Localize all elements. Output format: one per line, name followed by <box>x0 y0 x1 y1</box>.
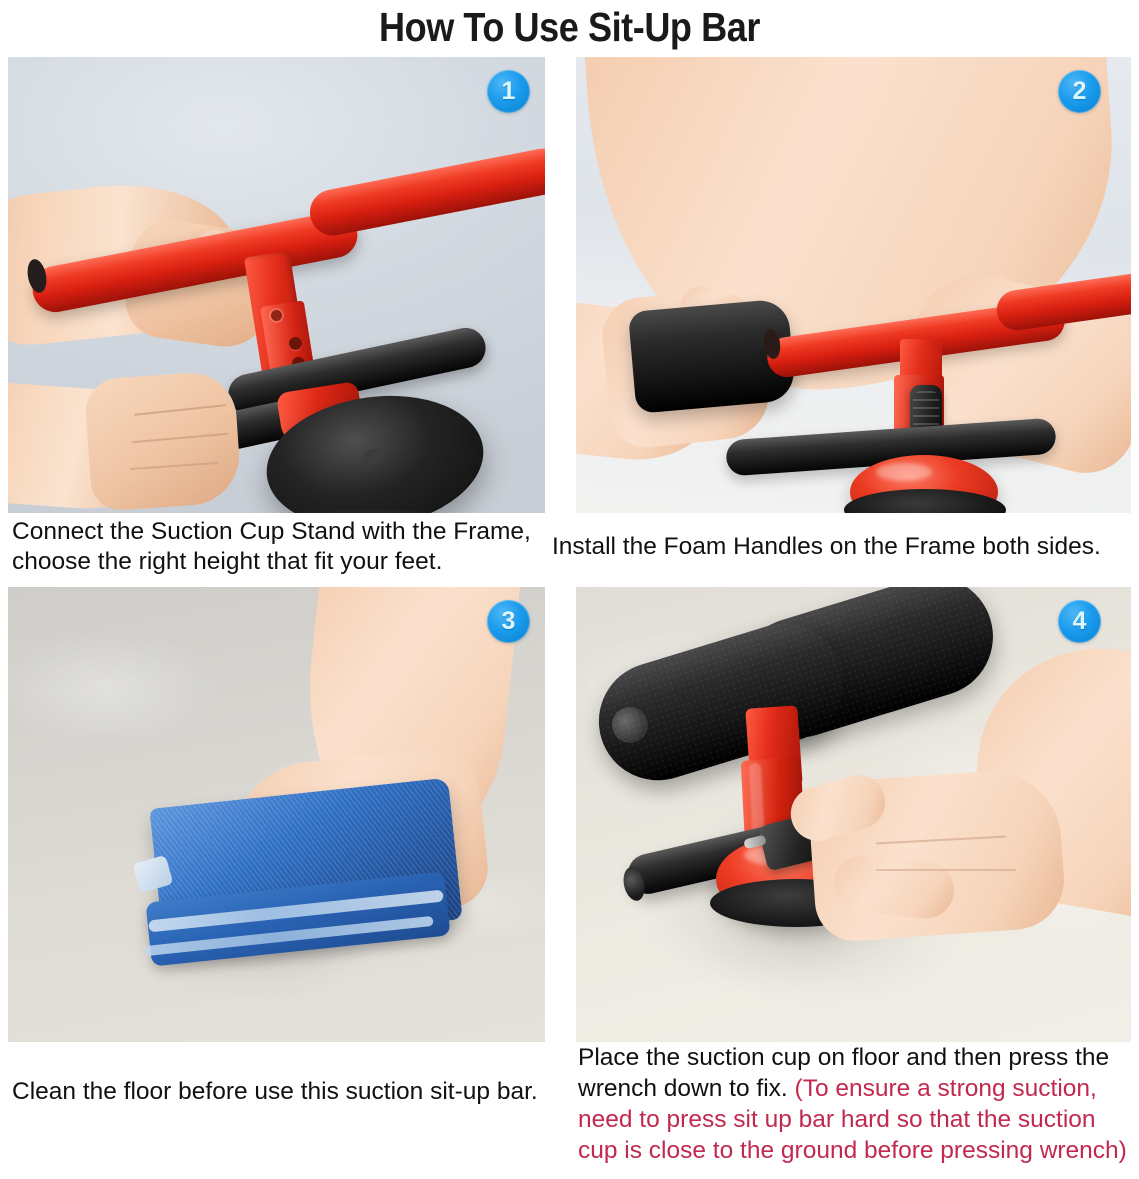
step-3-caption: Clean the floor before use this suction … <box>12 1077 572 1107</box>
step-2-photo <box>576 57 1131 513</box>
page-title-bar: How To Use Sit-Up Bar <box>0 0 1139 55</box>
sit-up-bar-instruction-infographic: How To Use Sit-Up Bar <box>0 0 1139 1179</box>
page-title: How To Use Sit-Up Bar <box>379 4 760 51</box>
step-4-photo <box>576 587 1131 1042</box>
step-badge-1: 1 <box>487 70 530 113</box>
step-badge-1-number: 1 <box>502 79 516 104</box>
step-badge-2: 2 <box>1058 70 1101 113</box>
step-1-caption: Connect the Suction Cup Stand with the F… <box>12 517 557 577</box>
step-1-lower-fist <box>84 370 243 512</box>
step-1-post-rivet <box>271 310 282 321</box>
step-badge-3: 3 <box>487 600 530 643</box>
step-1-photo <box>8 57 545 513</box>
step-1-post-hole-1 <box>289 337 302 350</box>
step-4-caption: Place the suction cup on floor and then … <box>578 1042 1138 1166</box>
step-2-caption: Install the Foam Handles on the Frame bo… <box>552 532 1139 562</box>
step-badge-4: 4 <box>1058 600 1101 643</box>
step-3-photo <box>8 587 545 1042</box>
step-badge-3-number: 3 <box>502 609 516 634</box>
step-badge-4-number: 4 <box>1073 609 1087 634</box>
step-4-finger-crease-2 <box>876 869 1016 871</box>
step-badge-2-number: 2 <box>1073 79 1087 104</box>
step-2-suction-cup-highlight <box>876 463 932 481</box>
